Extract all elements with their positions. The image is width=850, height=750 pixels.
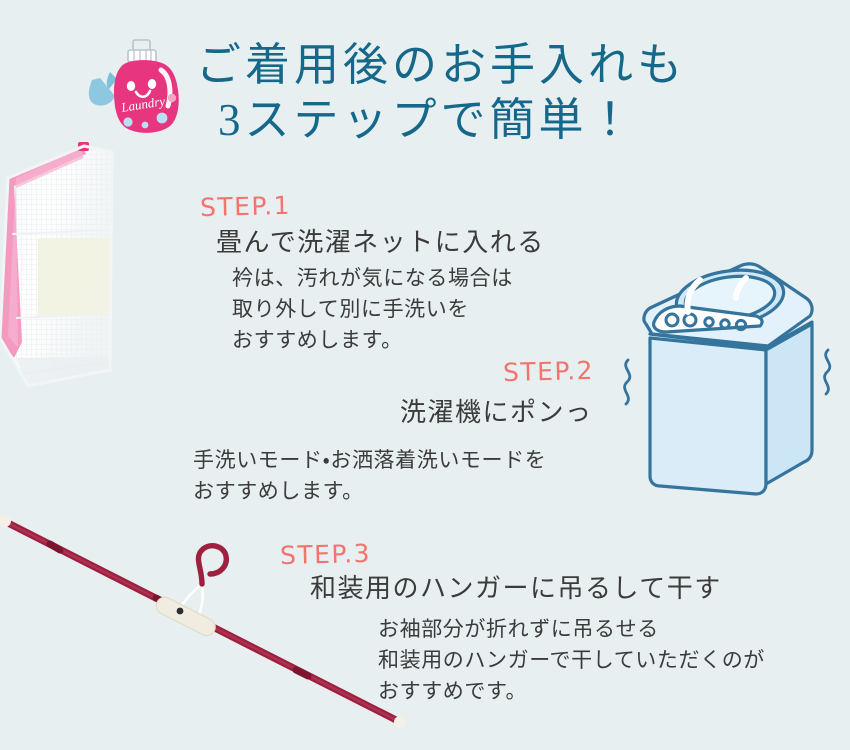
washer-side-panel — [766, 324, 812, 484]
step-3-heading: 和装用のハンガーに吊るして干す — [310, 572, 722, 605]
title-line-2: 3ステップで簡単！ — [196, 93, 816, 148]
title-line-1: ご着用後のお手入れも — [196, 38, 816, 93]
laundry-mascot-icon: Laundry — [84, 34, 196, 144]
step-1-sub-line-2: 取り外して別に手洗いを — [232, 295, 513, 326]
step-1-heading: 畳んで洗濯ネットに入れる — [216, 226, 545, 259]
step-2-heading: 洗濯機にポンっ — [400, 396, 593, 429]
care-instructions-page: Laundry ご着用後のお手入れも 3ステップで簡単！ — [0, 0, 850, 750]
step-2-sub-line-1: 手洗いモード・お洒落着洗いモードを — [193, 446, 546, 477]
hanger-grip-stud — [177, 608, 184, 615]
step-3-sub-line-1: お袖部分が折れずに吊るせる — [378, 615, 765, 646]
step-3-label: STEP.3 — [280, 539, 372, 570]
step-2-label: STEP.2 — [503, 356, 595, 387]
bottle-cap-icon — [128, 40, 156, 62]
net-inner-garment — [38, 238, 110, 316]
hanger-hook-icon — [198, 546, 226, 584]
step-3-sub-line-3: おすすめです。 — [378, 677, 765, 708]
step-1-label: STEP.1 — [200, 191, 292, 222]
step-3-description: お袖部分が折れずに吊るせる 和装用のハンガーで干していただくのが おすすめです。 — [378, 615, 765, 708]
laundry-net-image — [0, 142, 194, 394]
step-3-sub-line-2: 和装用のハンガーで干していただくのが — [378, 646, 765, 677]
kimono-hanger-illustration — [0, 498, 416, 748]
hanger-tip-right — [394, 716, 406, 728]
page-title: ご着用後のお手入れも 3ステップで簡単！ — [196, 38, 816, 148]
step-1-description: 衿は、汚れが気になる場合は 取り外して別に手洗いを おすすめします。 — [232, 264, 513, 357]
washing-machine-illustration — [606, 254, 850, 506]
washer-body — [650, 338, 766, 494]
step-1-sub-line-1: 衿は、汚れが気になる場合は — [232, 264, 513, 295]
step-1-sub-line-3: おすすめします。 — [232, 326, 513, 357]
